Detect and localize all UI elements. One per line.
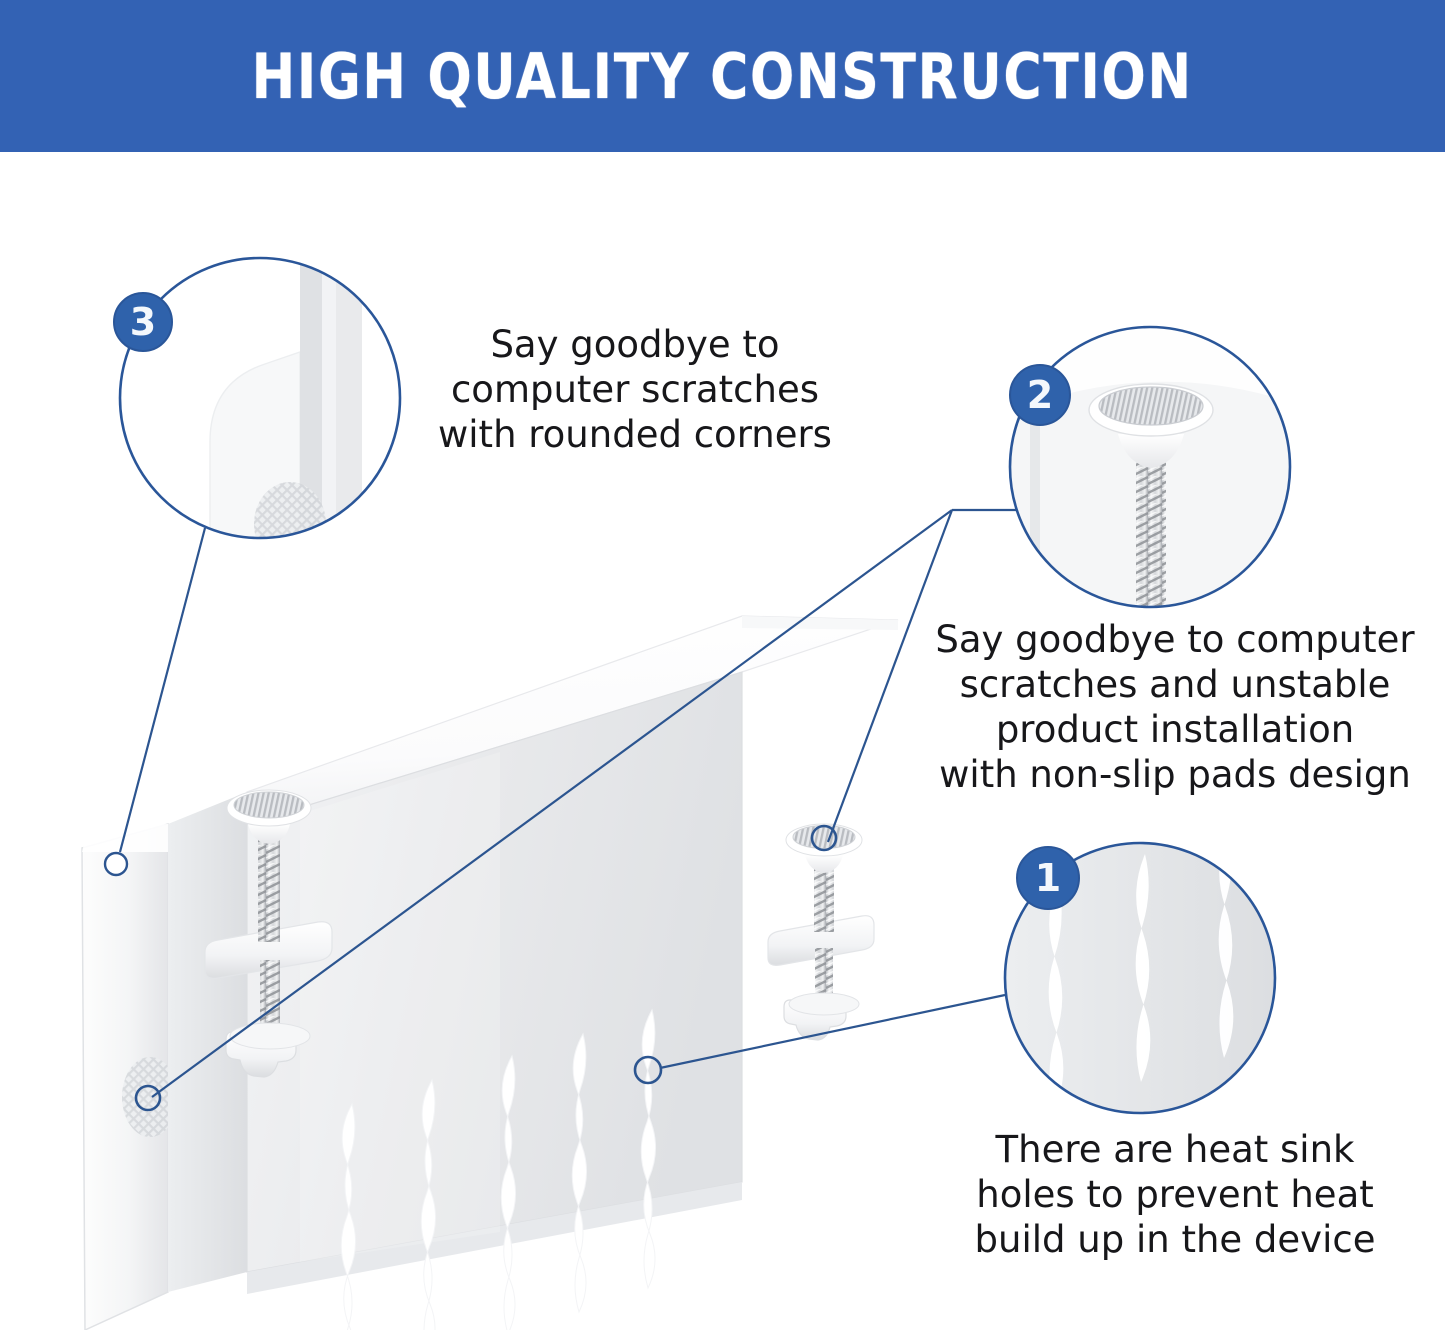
page-title: HIGH QUALITY CONSTRUCTION [252,40,1193,113]
callout-1-text: There are heat sink holes to prevent hea… [950,1127,1400,1262]
top-lip-edge [742,616,898,630]
header-banner: HIGH QUALITY CONSTRUCTION [0,0,1445,152]
callout-3-text: Say goodbye to computer scratches with r… [415,322,855,457]
leader-line-3 [120,528,205,852]
right-thumbscrew-cap [786,824,862,873]
callout-badge-1: 1 [1016,846,1080,910]
leader-endpoint-3 [105,853,127,875]
heat-sink-slot [572,1034,586,1312]
heat-sink-slot [421,1080,435,1330]
callout-2-text: Say goodbye to computer scratches and un… [915,617,1435,798]
infographic-stage: Say goodbye to computer scratches with r… [0,152,1445,1330]
callout-badge-2: 2 [1009,364,1071,426]
product-body [82,616,898,1330]
heat-sink-slot [501,1056,515,1330]
callout-badge-3: 3 [113,292,173,352]
right-clamp-assembly [768,824,874,1040]
heat-sink-slot [641,1010,655,1288]
rounded-corner [82,824,168,852]
